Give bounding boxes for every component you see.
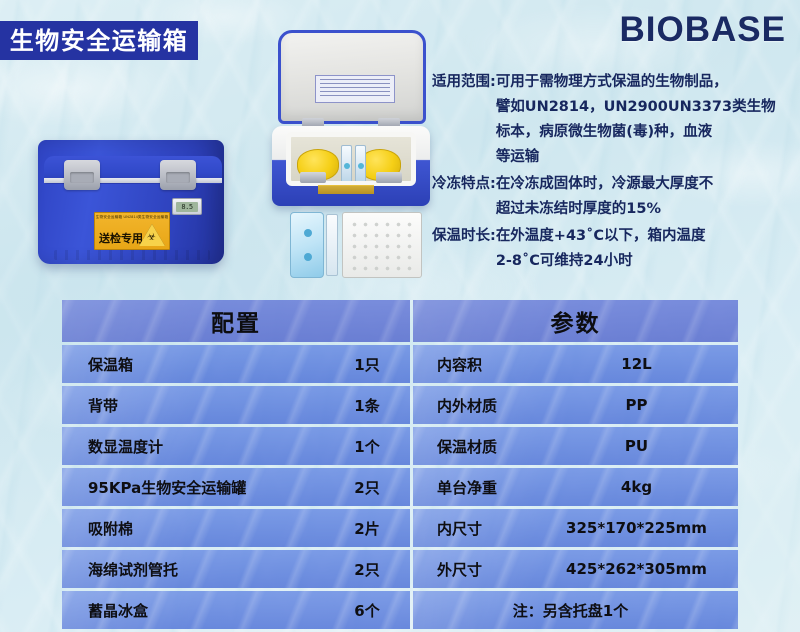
brand-logo: BIOBASE (620, 10, 786, 50)
param-item-name: 单台净重 (413, 477, 563, 498)
latch-right-icon (160, 160, 196, 190)
header-label-configuration: 配置 (211, 304, 261, 338)
config-item-qty: 1只 (324, 354, 410, 375)
table-row: 95KPa生物安全运输罐 2只 单台净重 4kg (62, 468, 738, 506)
param-cell: 外尺寸 425*262*305mm (413, 550, 738, 588)
description-line: 2-8˚C可维持24小时 (496, 249, 792, 274)
front-label-strip (318, 185, 374, 194)
lid-instruction-label (315, 75, 395, 103)
config-item-qty: 6个 (324, 600, 410, 621)
header-cell-parameter: 参数 (413, 300, 738, 342)
thermometer-reading: 8.5 (176, 202, 198, 212)
description-body-duration: 在外温度+43˚C以下，箱内温度 2-8˚C可维持24小时 (496, 224, 792, 274)
description-line: 譬如UN2814，UN2900UN3373类生物 (496, 95, 792, 120)
description-body-freezing: 在冷冻成固体时，冷源最大厚度不 超过未冻结时厚度的15% (496, 172, 792, 222)
cooler-bottom-ridges (54, 250, 210, 260)
config-item-name: 吸附棉 (62, 518, 324, 539)
param-cell: 单台净重 4kg (413, 468, 738, 506)
description-label-scope: 适用范围: (432, 70, 496, 170)
param-cell: 内尺寸 325*170*225mm (413, 509, 738, 547)
description-line: 等运输 (496, 145, 792, 170)
product-photo-open-box (262, 26, 438, 284)
table-row: 海绵试剂管托 2只 外尺寸 425*262*305mm (62, 550, 738, 588)
param-cell: 内外材质 PP (413, 386, 738, 424)
config-cell: 蓄晶冰盒 6个 (62, 591, 410, 629)
accessory-group (290, 210, 422, 280)
param-item-value: PU (563, 437, 738, 455)
description-line: 标本，病原微生物菌(毒)种，血液 (496, 120, 792, 145)
product-photo-closed-box: 生物安全运输箱 UN2814类生物安全运输箱 送检专用 8.5 (36, 112, 226, 267)
config-item-qty: 2片 (324, 518, 410, 539)
param-item-name: 保温材质 (413, 436, 563, 457)
param-item-value: 12L (563, 355, 738, 373)
config-cell: 95KPa生物安全运输罐 2只 (62, 468, 410, 506)
cooler-body: 生物安全运输箱 UN2814类生物安全运输箱 送检专用 8.5 (38, 140, 224, 264)
config-item-name: 数显温度计 (62, 436, 324, 457)
header-label-parameter: 参数 (551, 304, 601, 338)
param-note-cell: 注：另含托盘1个 (413, 591, 738, 629)
config-item-qty: 2只 (324, 559, 410, 580)
open-box-lid (278, 30, 426, 124)
biohazard-triangle-icon (139, 224, 165, 246)
config-item-qty: 1个 (324, 436, 410, 457)
param-item-value: 4kg (563, 478, 738, 496)
param-cell: 保温材质 PU (413, 427, 738, 465)
latch-left-icon (64, 160, 100, 190)
param-item-name: 内容积 (413, 354, 563, 375)
description-line: 可用于需物理方式保温的生物制品， (496, 70, 792, 95)
product-spec-page: 生物安全运输箱 BIOBASE 生物安全运输箱 UN2814类生物安全运输箱 送… (0, 0, 800, 632)
config-item-name: 95KPa生物安全运输罐 (62, 477, 324, 498)
open-latch-left-icon (300, 172, 326, 183)
biohazard-label-heading: 生物安全运输箱 UN2814类生物安全运输箱 (95, 213, 169, 220)
description-paragraph-freezing: 冷冻特点: 在冷冻成固体时，冷源最大厚度不 超过未冻结时厚度的15% (432, 172, 792, 222)
description-paragraph-duration: 保温时长: 在外温度+43˚C以下，箱内温度 2-8˚C可维持24小时 (432, 224, 792, 274)
description-block: 适用范围: 可用于需物理方式保温的生物制品， 譬如UN2814，UN2900UN… (432, 70, 792, 276)
table-row: 数显温度计 1个 保温材质 PU (62, 427, 738, 465)
param-item-name: 内外材质 (413, 395, 563, 416)
table-row: 吸附棉 2片 内尺寸 325*170*225mm (62, 509, 738, 547)
table-note: 注：另含托盘1个 (513, 600, 638, 621)
tube-rack-tray (342, 212, 422, 278)
config-cell: 吸附棉 2片 (62, 509, 410, 547)
lid-label-text-lines (320, 79, 390, 99)
config-cell: 背带 1条 (62, 386, 410, 424)
config-cell: 保温箱 1只 (62, 345, 410, 383)
param-item-value: PP (563, 396, 738, 414)
config-cell: 海绵试剂管托 2只 (62, 550, 410, 588)
page-title: 生物安全运输箱 (10, 29, 189, 53)
config-cell: 数显温度计 1个 (62, 427, 410, 465)
open-box-base (272, 126, 430, 206)
param-item-value: 325*170*225mm (563, 519, 738, 537)
param-item-name: 外尺寸 (413, 559, 563, 580)
table-row: 蓄晶冰盒 6个 注：另含托盘1个 (62, 591, 738, 629)
sample-vial-2 (355, 145, 366, 183)
description-paragraph-scope: 适用范围: 可用于需物理方式保温的生物制品， 譬如UN2814，UN2900UN… (432, 70, 792, 170)
param-item-value: 425*262*305mm (563, 560, 738, 578)
description-line: 超过未冻结时厚度的15% (496, 197, 792, 222)
config-item-name: 保温箱 (62, 354, 324, 375)
description-line: 在冷冻成固体时，冷源最大厚度不 (496, 172, 792, 197)
biohazard-label-main: 送检专用 (99, 234, 143, 245)
description-label-freezing: 冷冻特点: (432, 172, 496, 222)
description-label-duration: 保温时长: (432, 224, 496, 274)
specification-table: 配置 参数 保温箱 1只 内容积 12L 背带 1条 内外材质 PP (62, 300, 738, 629)
digital-thermometer: 8.5 (172, 198, 202, 215)
header-cell-configuration: 配置 (62, 300, 410, 342)
open-latch-right-icon (376, 172, 402, 183)
table-header-row: 配置 参数 (62, 300, 738, 342)
description-line: 在外温度+43˚C以下，箱内温度 (496, 224, 792, 249)
config-item-name: 背带 (62, 395, 324, 416)
config-item-qty: 2只 (324, 477, 410, 498)
description-body-scope: 可用于需物理方式保温的生物制品， 譬如UN2814，UN2900UN3373类生… (496, 70, 792, 170)
ice-pack (290, 212, 324, 278)
sample-vial-1 (341, 145, 352, 183)
biohazard-label: 生物安全运输箱 UN2814类生物安全运输箱 送检专用 (94, 212, 170, 250)
table-row: 保温箱 1只 内容积 12L (62, 345, 738, 383)
reagent-tube (326, 214, 338, 276)
table-row: 背带 1条 内外材质 PP (62, 386, 738, 424)
param-item-name: 内尺寸 (413, 518, 563, 539)
title-banner: 生物安全运输箱 (0, 21, 198, 60)
config-item-name: 蓄晶冰盒 (62, 600, 324, 621)
config-item-name: 海绵试剂管托 (62, 559, 324, 580)
config-item-qty: 1条 (324, 395, 410, 416)
param-cell: 内容积 12L (413, 345, 738, 383)
tray-holes (349, 219, 415, 271)
